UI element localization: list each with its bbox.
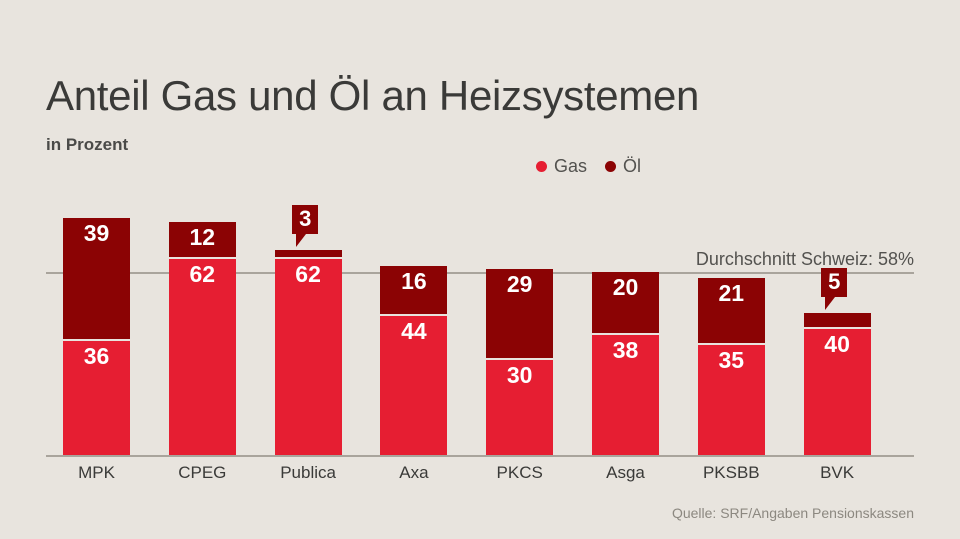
bar-value-oil: 12 [169, 225, 236, 249]
bar-segment-gas[interactable]: 62 [275, 259, 342, 455]
bar-group-axa[interactable]: 4416 [380, 266, 447, 455]
bar-group-pksbb[interactable]: 3521 [698, 278, 765, 455]
bar-group-bvk[interactable]: 405 [804, 313, 871, 455]
chart-root: Anteil Gas und Öl an Heizsystemen in Pro… [0, 0, 960, 539]
bar-segment-oil[interactable] [804, 313, 871, 329]
bar-value-gas: 35 [698, 348, 765, 372]
bar-segment-oil[interactable]: 21 [698, 278, 765, 344]
bar-segment-gas[interactable]: 62 [169, 259, 236, 455]
bar-segment-gas[interactable]: 44 [380, 316, 447, 455]
category-label-publica: Publica [275, 463, 342, 483]
bar-value-oil: 16 [380, 269, 447, 293]
bar-value-oil: 29 [486, 272, 553, 296]
bar-segment-oil[interactable]: 20 [592, 272, 659, 335]
x-axis-line [46, 455, 914, 457]
bar-value-gas: 44 [380, 319, 447, 343]
source-note: Quelle: SRF/Angaben Pensionskassen [672, 505, 914, 521]
bar-value-gas: 36 [63, 344, 130, 368]
bar-segment-gas[interactable]: 38 [592, 335, 659, 455]
bar-value-oil-callout: 3 [292, 205, 318, 234]
bar-segment-oil[interactable]: 12 [169, 222, 236, 260]
category-label-cpeg: CPEG [169, 463, 236, 483]
bar-value-oil: 39 [63, 221, 130, 245]
bar-value-gas: 62 [275, 262, 342, 286]
bar-segment-oil[interactable]: 16 [380, 266, 447, 316]
bar-segment-oil[interactable]: 39 [63, 218, 130, 341]
plot-area: Durchschnitt Schweiz: 58% 36396212623441… [0, 0, 960, 539]
bar-value-gas: 62 [169, 262, 236, 286]
bar-segment-gas[interactable]: 40 [804, 329, 871, 455]
bar-value-gas: 40 [804, 332, 871, 356]
bar-group-mpk[interactable]: 3639 [63, 218, 130, 455]
bar-segment-oil[interactable] [275, 250, 342, 259]
callout-tail-icon [296, 234, 306, 247]
bar-value-gas: 38 [592, 338, 659, 362]
category-label-bvk: BVK [804, 463, 871, 483]
average-reference-label: Durchschnitt Schweiz: 58% [696, 249, 914, 270]
bar-group-pkcs[interactable]: 3029 [486, 269, 553, 455]
bar-group-asga[interactable]: 3820 [592, 272, 659, 455]
category-label-pkcs: PKCS [486, 463, 553, 483]
category-label-asga: Asga [592, 463, 659, 483]
category-label-pksbb: PKSBB [698, 463, 765, 483]
bar-group-publica[interactable]: 623 [275, 250, 342, 455]
bar-segment-gas[interactable]: 35 [698, 345, 765, 455]
bar-value-oil: 20 [592, 275, 659, 299]
bar-value-oil: 21 [698, 281, 765, 305]
bar-segment-oil[interactable]: 29 [486, 269, 553, 360]
callout-tail-icon [825, 297, 835, 310]
category-label-axa: Axa [380, 463, 447, 483]
category-label-mpk: MPK [63, 463, 130, 483]
bar-segment-gas[interactable]: 36 [63, 341, 130, 455]
bar-group-cpeg[interactable]: 6212 [169, 222, 236, 455]
bar-value-oil-callout: 5 [821, 268, 847, 297]
bar-value-gas: 30 [486, 363, 553, 387]
bar-segment-gas[interactable]: 30 [486, 360, 553, 455]
